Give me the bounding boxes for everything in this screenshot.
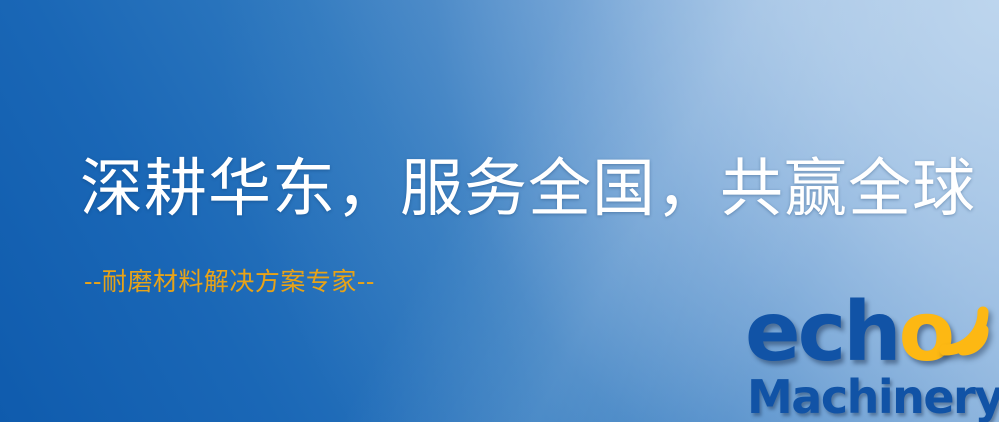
logo-tagline: Machinery® (747, 365, 999, 422)
hero-banner: 深耕华东，服务全国，共赢全球 --耐磨材料解决方案专家-- echo Machi… (0, 0, 999, 422)
banner-headline: 深耕华东，服务全国，共赢全球 (80, 152, 976, 226)
banner-subtitle: --耐磨材料解决方案专家-- (84, 266, 375, 298)
company-logo[interactable]: echo Machinery® (745, 292, 999, 422)
echo-waves-icon (923, 290, 999, 366)
logo-wordmark: echo (745, 292, 952, 374)
logo-tagline-text: Machinery (747, 370, 999, 422)
